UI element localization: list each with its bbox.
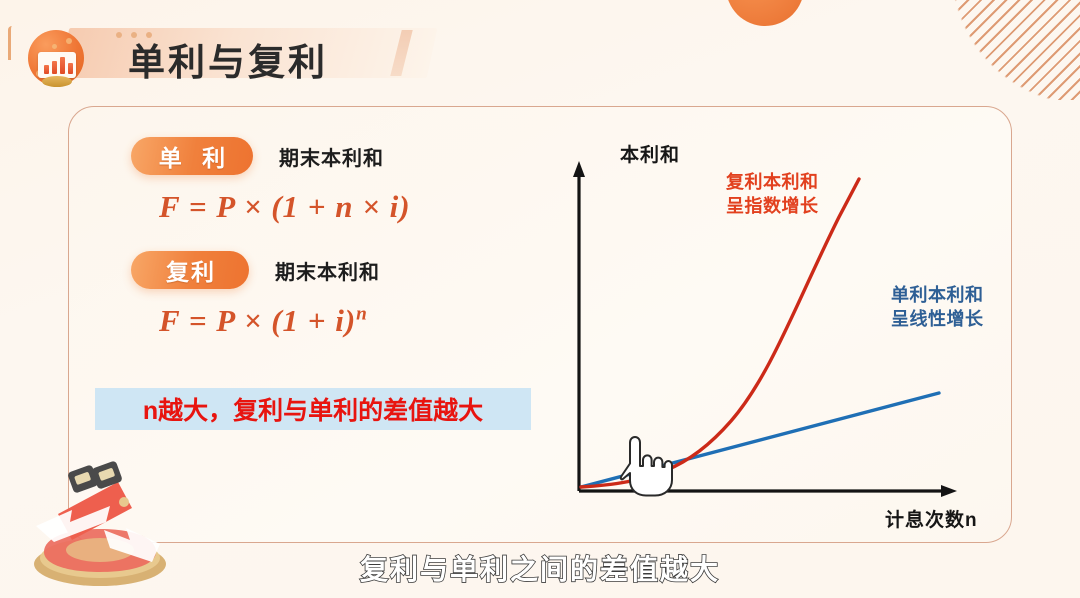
header-dots-decoration bbox=[116, 32, 152, 38]
slide-root: 单利与复利 单 利 期末本利和 F = P × (1 + n × i) 复利 期… bbox=[0, 0, 1080, 598]
compound-interest-block: 复利 期末本利和 F = P × (1 + i)n bbox=[131, 251, 531, 339]
compound-interest-label: 期末本利和 bbox=[275, 256, 380, 285]
y-axis-arrowhead bbox=[573, 161, 585, 177]
compound-annotation-line2: 呈指数增长 bbox=[726, 195, 819, 219]
conclusion-highlight-box: n越大，复利与单利的差值越大 bbox=[95, 388, 531, 430]
hand-pointer-icon bbox=[619, 433, 673, 499]
compound-interest-header: 复利 期末本利和 bbox=[131, 251, 531, 289]
simple-interest-header: 单 利 期末本利和 bbox=[131, 137, 531, 175]
compound-formula-base: F = P × (1 + i) bbox=[159, 303, 356, 338]
content-card: 单 利 期末本利和 F = P × (1 + n × i) 复利 期末本利和 F… bbox=[68, 106, 1012, 543]
simple-interest-label: 期末本利和 bbox=[279, 142, 384, 171]
x-axis-label: 计息次数n bbox=[885, 505, 978, 532]
x-axis-arrowhead bbox=[941, 485, 957, 497]
y-axis-label: 本利和 bbox=[620, 140, 680, 167]
simple-interest-formula: F = P × (1 + n × i) bbox=[159, 189, 531, 225]
bottom-caption: 复利与单利之间的差值越大 bbox=[0, 548, 1080, 588]
decorative-orange-circle bbox=[726, 0, 804, 26]
compound-interest-badge: 复利 bbox=[131, 251, 249, 289]
simple-annotation: 单利本利和 呈线性增长 bbox=[891, 284, 984, 332]
compound-annotation: 复利本利和 呈指数增长 bbox=[726, 171, 819, 219]
formula-column: 单 利 期末本利和 F = P × (1 + n × i) 复利 期末本利和 F… bbox=[131, 137, 531, 339]
chart-ball-icon bbox=[22, 30, 90, 94]
coin-accent bbox=[119, 497, 129, 507]
conclusion-text: n越大，复利与单利的差值越大 bbox=[143, 391, 483, 427]
compound-annotation-line1: 复利本利和 bbox=[726, 171, 819, 195]
compound-interest-formula: F = P × (1 + i)n bbox=[159, 303, 531, 339]
simple-interest-block: 单 利 期末本利和 F = P × (1 + n × i) bbox=[131, 137, 531, 225]
simple-annotation-line1: 单利本利和 bbox=[891, 284, 984, 308]
slide-header: 单利与复利 bbox=[0, 14, 460, 92]
compound-formula-exponent: n bbox=[356, 304, 368, 325]
decorative-diagonal-stripes bbox=[916, 0, 1080, 100]
simple-interest-badge: 单 利 bbox=[131, 137, 253, 175]
growth-comparison-chart: 本利和 计息次数n 复利本利和 呈指数增长 单利本利和 呈线性增长 bbox=[539, 121, 999, 531]
simple-annotation-line2: 呈线性增长 bbox=[891, 308, 984, 332]
page-title: 单利与复利 bbox=[128, 44, 328, 81]
